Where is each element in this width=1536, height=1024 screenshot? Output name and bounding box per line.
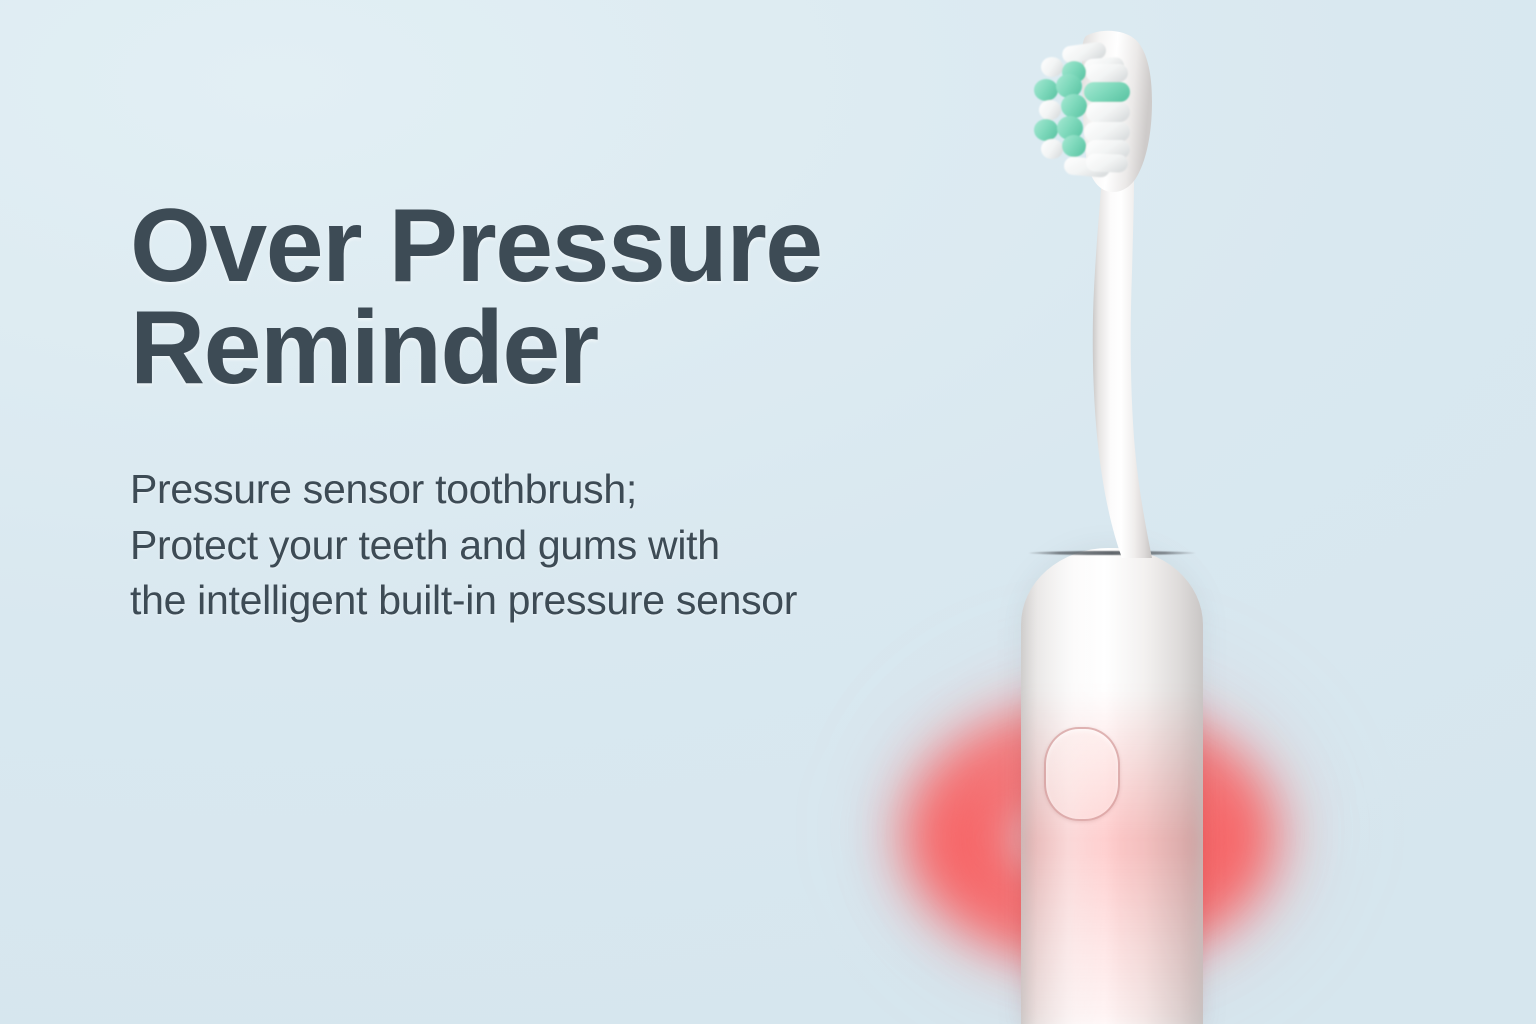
promo-banner: Over Pressure Reminder Pressure sensor t…	[0, 0, 1536, 1024]
subheading-description: Pressure sensor toothbrush; Protect your…	[130, 462, 1010, 629]
marketing-copy-block: Over Pressure Reminder Pressure sensor t…	[130, 196, 1010, 629]
page-title: Over Pressure Reminder	[130, 196, 1010, 400]
